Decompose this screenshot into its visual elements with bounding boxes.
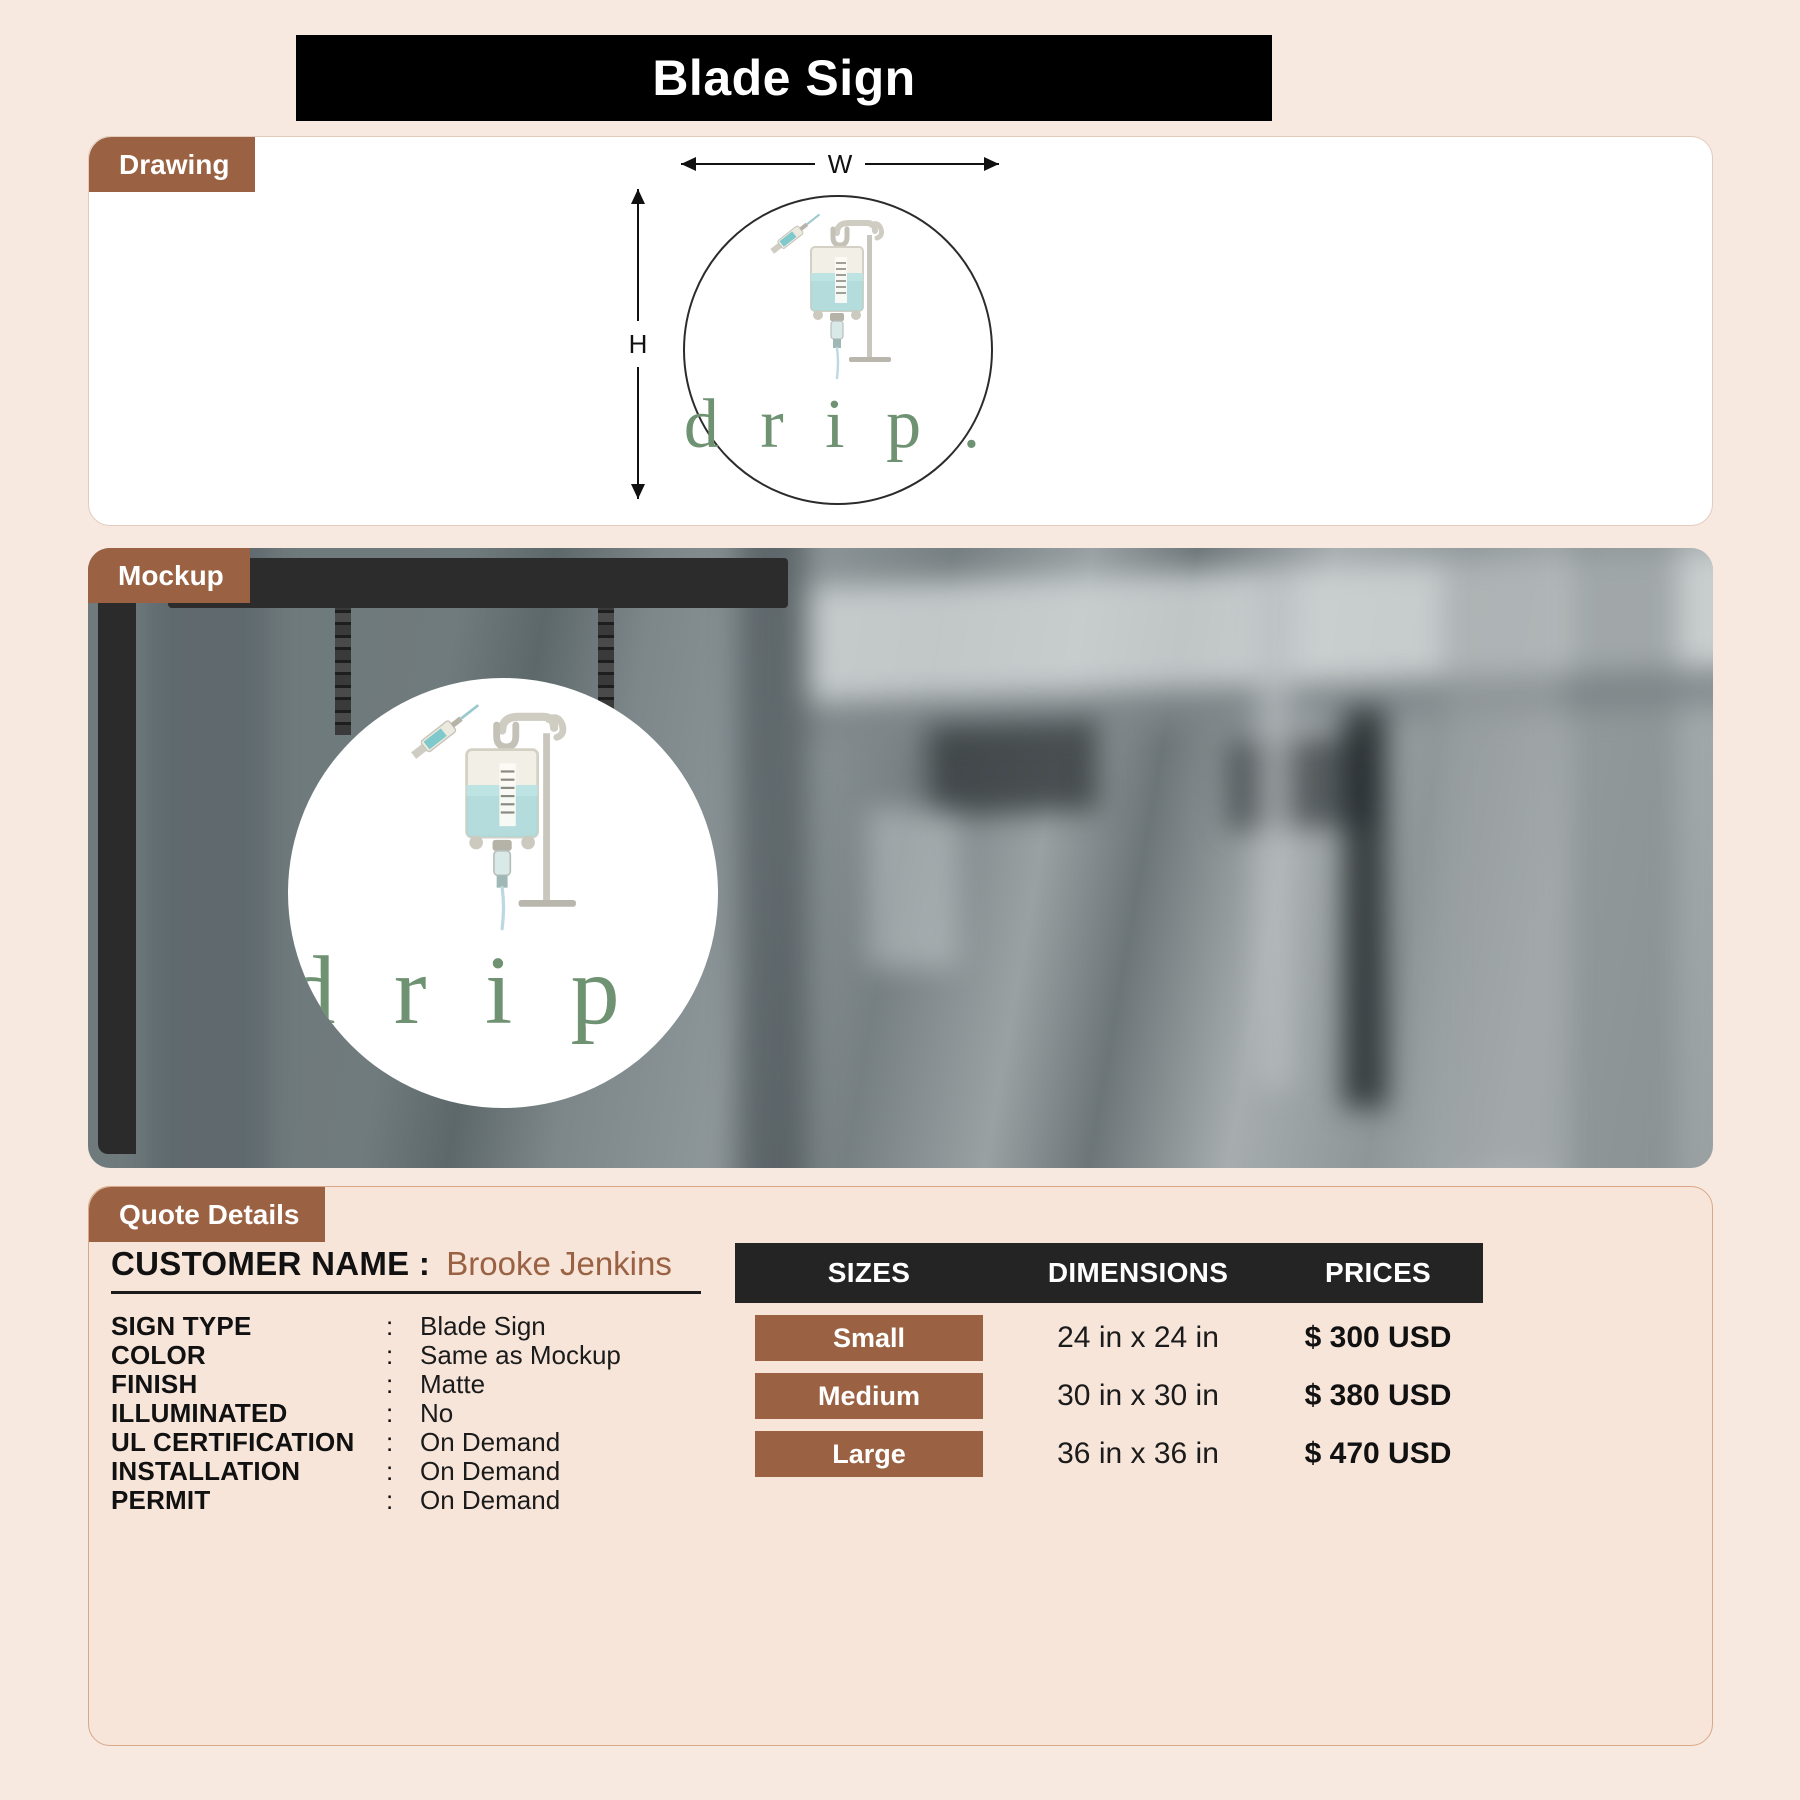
page-title: Blade Sign [652, 53, 915, 103]
spec-value: Matte [420, 1369, 485, 1400]
mockup-sign-face: d r i p . [288, 678, 718, 1108]
price-value: $ 470 USD [1305, 1437, 1452, 1470]
column-header-prices: PRICES [1273, 1257, 1483, 1289]
spec-colon: : [386, 1340, 420, 1371]
mounting-post [98, 558, 136, 1154]
spec-key: INSTALLATION [111, 1456, 386, 1487]
spec-value: No [420, 1398, 453, 1429]
width-dimension-arrow: W [681, 151, 999, 177]
width-label: W [815, 149, 866, 180]
height-dimension-arrow: H [623, 189, 653, 499]
spec-row-permit: PERMIT : On Demand [111, 1485, 751, 1514]
spec-key: PERMIT [111, 1485, 386, 1516]
pricing-table: SIZES DIMENSIONS PRICES Small 24 in x 24… [735, 1243, 1483, 1483]
mockup-tab-label: Mockup [88, 548, 250, 603]
column-header-sizes: SIZES [735, 1257, 1003, 1289]
spec-value: Blade Sign [420, 1311, 546, 1342]
drawing-canvas: W H [89, 137, 1712, 525]
table-row: Medium 30 in x 30 in $ 380 USD [735, 1367, 1483, 1425]
spec-key: FINISH [111, 1369, 386, 1400]
mockup-wordmark: d r i p . [288, 942, 718, 1040]
spec-colon: : [386, 1398, 420, 1429]
sign-outline-circle: d r i p . [683, 195, 993, 505]
quote-sheet: Blade Sign W H [0, 0, 1800, 1800]
mockup-photo: d r i p . [88, 548, 1713, 1168]
dimensions-value: 24 in x 24 in [1057, 1321, 1219, 1354]
spec-value: Same as Mockup [420, 1340, 621, 1371]
spec-row-illuminated: ILLUMINATED : No [111, 1398, 751, 1427]
mounting-bracket [168, 558, 788, 608]
spec-value: On Demand [420, 1456, 560, 1487]
size-badge-large[interactable]: Large [755, 1431, 983, 1477]
price-cell: $ 300 USD [1273, 1321, 1483, 1355]
spec-row-color: COLOR : Same as Mockup [111, 1340, 751, 1369]
arrow-head-up-icon [637, 189, 639, 321]
spec-colon: : [386, 1369, 420, 1400]
spec-value: On Demand [420, 1427, 560, 1458]
dimensions-value: 36 in x 36 in [1057, 1437, 1219, 1470]
drawing-tab-label: Drawing [89, 137, 255, 192]
spec-key: UL CERTIFICATION [111, 1427, 386, 1458]
drawing-panel: W H [88, 136, 1713, 526]
spec-colon: : [386, 1427, 420, 1458]
size-cell: Small [735, 1315, 1003, 1361]
spec-colon: : [386, 1456, 420, 1487]
spec-key: ILLUMINATED [111, 1398, 386, 1429]
spec-list: SIGN TYPE : Blade Sign COLOR : Same as M… [111, 1311, 751, 1514]
drawing-wordmark: d r i p . [684, 390, 992, 460]
customer-name-value: Brooke Jenkins [446, 1245, 672, 1283]
height-label: H [629, 321, 648, 367]
spec-value: On Demand [420, 1485, 560, 1516]
page-title-banner: Blade Sign [296, 35, 1272, 121]
spec-colon: : [386, 1485, 420, 1516]
table-row: Small 24 in x 24 in $ 300 USD [735, 1309, 1483, 1367]
size-badge-medium[interactable]: Medium [755, 1373, 983, 1419]
spec-key: COLOR [111, 1340, 386, 1371]
price-value: $ 300 USD [1305, 1321, 1452, 1354]
dimensions-value: 30 in x 30 in [1057, 1379, 1219, 1412]
quote-details-panel: Quote Details CUSTOMER NAME : Brooke Jen… [88, 1186, 1713, 1746]
column-header-dimensions: DIMENSIONS [1003, 1257, 1273, 1289]
spec-row-sign-type: SIGN TYPE : Blade Sign [111, 1311, 751, 1340]
iv-drip-bag-icon [401, 700, 606, 940]
dimensions-cell: 30 in x 30 in [1003, 1379, 1273, 1413]
spec-colon: : [386, 1311, 420, 1342]
size-cell: Medium [735, 1373, 1003, 1419]
spec-row-installation: INSTALLATION : On Demand [111, 1456, 751, 1485]
price-cell: $ 470 USD [1273, 1437, 1483, 1471]
arrow-head-down-icon [637, 367, 639, 499]
arrow-head-left-icon [681, 163, 815, 165]
quote-details-tab-label: Quote Details [89, 1187, 325, 1242]
pricing-table-header-row: SIZES DIMENSIONS PRICES [735, 1243, 1483, 1303]
arrow-head-right-icon [865, 163, 999, 165]
dimensions-cell: 24 in x 24 in [1003, 1321, 1273, 1355]
size-cell: Large [735, 1431, 1003, 1477]
customer-name-row: CUSTOMER NAME : Brooke Jenkins [111, 1245, 701, 1294]
dimensions-cell: 36 in x 36 in [1003, 1437, 1273, 1471]
price-cell: $ 380 USD [1273, 1379, 1483, 1413]
price-value: $ 380 USD [1305, 1379, 1452, 1412]
mockup-panel: d r i p . Mockup [88, 548, 1713, 1168]
drawing-logo: d r i p . [685, 197, 991, 503]
mockup-logo: d r i p . [288, 678, 718, 1108]
size-badge-small[interactable]: Small [755, 1315, 983, 1361]
customer-name-label: CUSTOMER NAME : [111, 1245, 430, 1283]
spec-row-ul-certification: UL CERTIFICATION : On Demand [111, 1427, 751, 1456]
spec-row-finish: FINISH : Matte [111, 1369, 751, 1398]
spec-key: SIGN TYPE [111, 1311, 386, 1342]
table-row: Large 36 in x 36 in $ 470 USD [735, 1425, 1483, 1483]
iv-drip-bag-icon [763, 211, 913, 386]
